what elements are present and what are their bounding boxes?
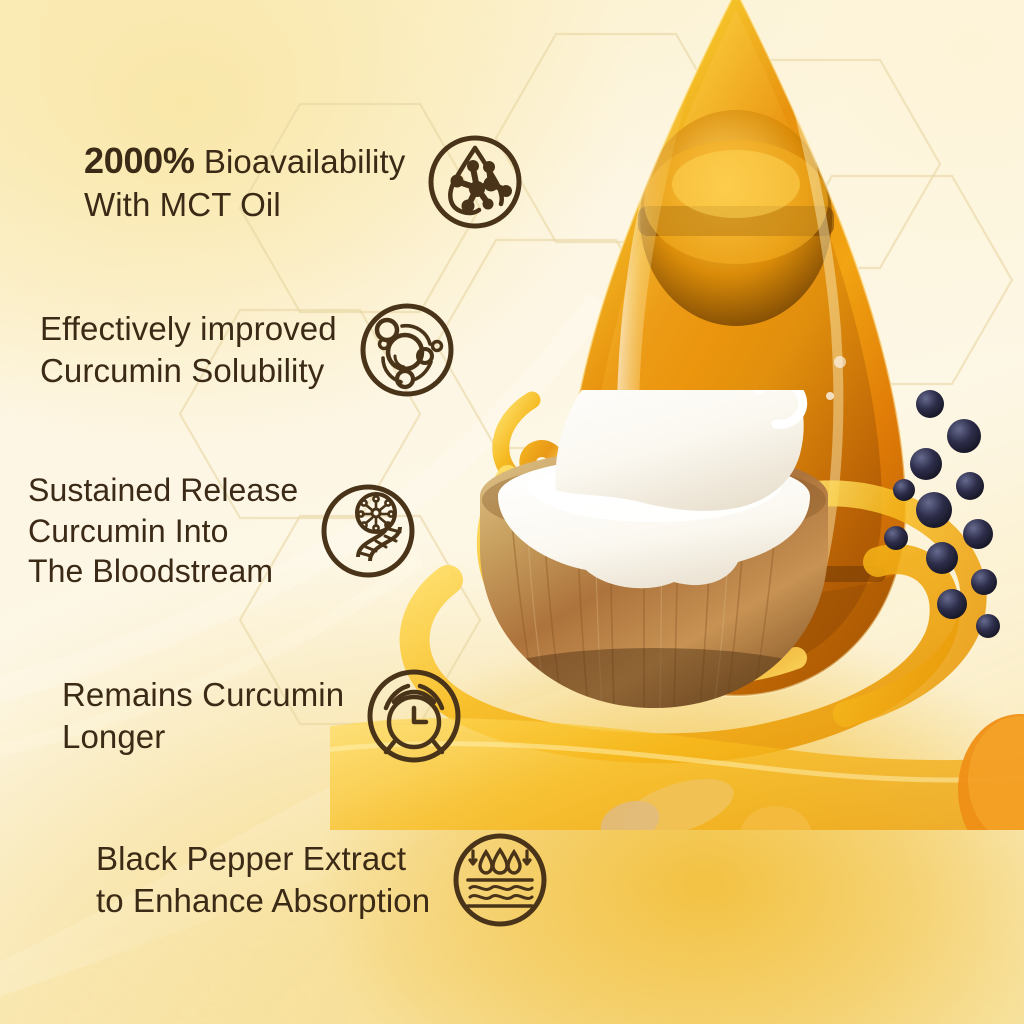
alarm-clock-icon <box>364 666 464 766</box>
feature-solubility: Effectively improved Curcumin Solubility <box>40 300 457 400</box>
feature-label-bioavailability: 2000% Bioavailability With MCT Oil <box>84 138 405 226</box>
feature-label-sustained-release: Sustained Release Curcumin Into The Bloo… <box>28 470 298 592</box>
feature-label-solubility: Effectively improved Curcumin Solubility <box>40 308 337 392</box>
infographic-canvas: 2000% Bioavailability With MCT Oil <box>0 0 1024 1024</box>
dissolving-bubbles-icon <box>357 300 457 400</box>
feature-label-black-pepper: Black Pepper Extract to Enhance Absorpti… <box>96 838 430 922</box>
feature-sustained-release: Sustained Release Curcumin Into The Bloo… <box>28 470 418 592</box>
feature-highlight-2000: 2000% <box>84 140 195 181</box>
feature-black-pepper: Black Pepper Extract to Enhance Absorpti… <box>96 830 550 930</box>
feature-remains-longer: Remains Curcumin Longer <box>62 666 464 766</box>
absorption-droplets-icon <box>450 830 550 930</box>
dna-helix-icon <box>318 481 418 581</box>
feature-bioavailability: 2000% Bioavailability With MCT Oil <box>84 132 525 232</box>
feature-list: 2000% Bioavailability With MCT Oil <box>0 0 660 1024</box>
oil-droplet-molecule-icon <box>425 132 525 232</box>
feature-label-remains-longer: Remains Curcumin Longer <box>62 674 344 758</box>
